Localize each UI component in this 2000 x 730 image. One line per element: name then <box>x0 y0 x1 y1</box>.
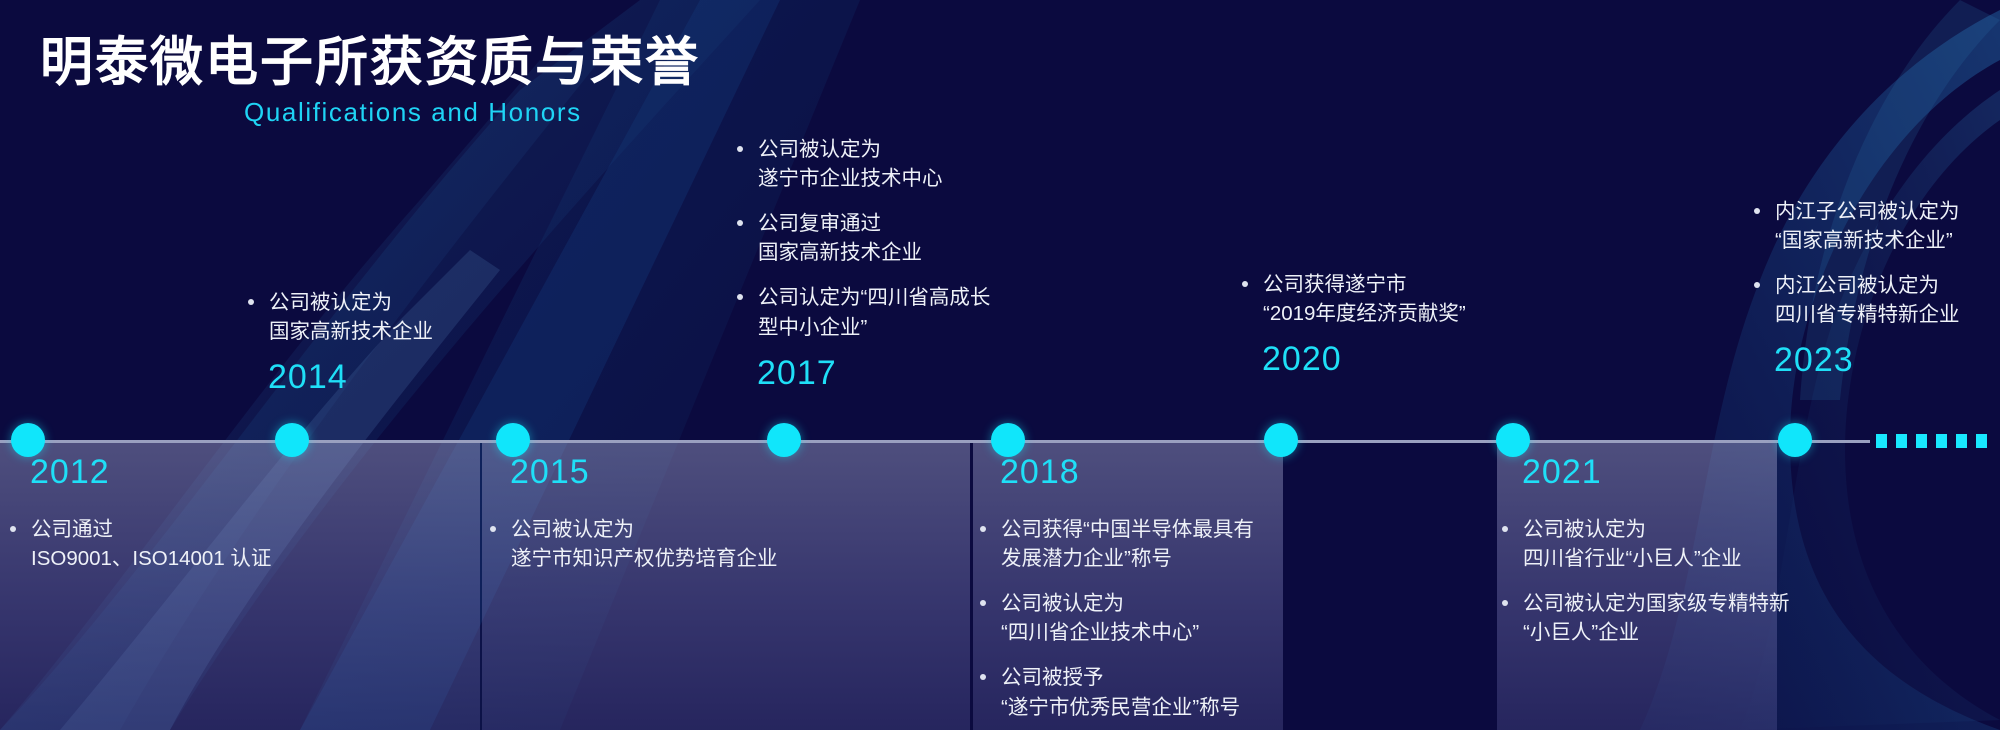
timeline-dot-2020[interactable] <box>1264 423 1298 457</box>
timeline-year-label-2023: 2023 <box>1774 343 1960 377</box>
timeline-dot-2017[interactable] <box>767 423 801 457</box>
timeline-axis-dashes <box>1876 434 1987 448</box>
timeline-year-label-2018: 2018 <box>1000 455 1254 489</box>
axis-dash <box>1936 434 1947 448</box>
timeline-entry-bullets-2023: 内江子公司被认定为 “国家高新技术企业”内江公司被认定为 四川省专精特新企业 <box>1752 197 1960 329</box>
timeline-bullet: 公司复审通过 国家高新技术企业 <box>735 209 990 267</box>
timeline-bullet: 公司认定为“四川省高成长 型中小企业” <box>735 283 990 341</box>
timeline-entry-bullets-2020: 公司获得遂宁市 “2019年度经济贡献奖” <box>1240 270 1466 328</box>
timeline-bullet: 公司被认定为国家级专精特新 “小巨人”企业 <box>1500 589 1790 647</box>
timeline-bullet: 公司获得“中国半导体最具有 发展潜力企业”称号 <box>978 515 1254 573</box>
timeline-bullet: 公司被授予 “遂宁市优秀民营企业”称号 <box>978 663 1254 721</box>
timeline-dot-2015[interactable] <box>496 423 530 457</box>
timeline-dot-2023[interactable] <box>1778 423 1812 457</box>
timeline-entry-2014[interactable]: 公司被认定为 国家高新技术企业2014 <box>246 288 433 394</box>
page-header: 明泰微电子所获资质与荣誉 Qualifications and Honors <box>40 34 700 128</box>
axis-dash <box>1976 434 1987 448</box>
axis-dash <box>1916 434 1927 448</box>
timeline-dot-2014[interactable] <box>275 423 309 457</box>
timeline-year-label-2015: 2015 <box>510 455 778 489</box>
timeline-year-label-2021: 2021 <box>1522 455 1790 489</box>
timeline-bullet: 公司通过 ISO9001、ISO14001 认证 <box>8 515 271 573</box>
timeline-entry-bullets-2021: 公司被认定为 四川省行业“小巨人”企业公司被认定为国家级专精特新 “小巨人”企业 <box>1500 515 1790 647</box>
timeline-entry-2012[interactable]: 2012公司通过 ISO9001、ISO14001 认证 <box>8 455 271 573</box>
timeline-bullet: 公司被认定为 “四川省企业技术中心” <box>978 589 1254 647</box>
timeline-dot-2018[interactable] <box>991 423 1025 457</box>
timeline-entry-bullets-2014: 公司被认定为 国家高新技术企业 <box>246 288 433 346</box>
timeline-entry-bullets-2012: 公司通过 ISO9001、ISO14001 认证 <box>8 515 271 573</box>
page-title: 明泰微电子所获资质与荣誉 <box>40 34 700 91</box>
timeline-dot-2021[interactable] <box>1496 423 1530 457</box>
timeline-entry-bullets-2015: 公司被认定为 遂宁市知识产权优势培育企业 <box>488 515 778 573</box>
timeline-entry-2018[interactable]: 2018公司获得“中国半导体最具有 发展潜力企业”称号公司被认定为 “四川省企业… <box>978 455 1254 722</box>
timeline-year-label-2014: 2014 <box>268 360 433 394</box>
timeline-bullet: 公司被认定为 四川省行业“小巨人”企业 <box>1500 515 1790 573</box>
timeline-entry-2015[interactable]: 2015公司被认定为 遂宁市知识产权优势培育企业 <box>488 455 778 573</box>
timeline-entry-bullets-2018: 公司获得“中国半导体最具有 发展潜力企业”称号公司被认定为 “四川省企业技术中心… <box>978 515 1254 722</box>
timeline-year-label-2017: 2017 <box>757 356 990 390</box>
timeline-entry-2023[interactable]: 内江子公司被认定为 “国家高新技术企业”内江公司被认定为 四川省专精特新企业20… <box>1752 197 1960 377</box>
timeline-bullet: 公司被认定为 遂宁市知识产权优势培育企业 <box>488 515 778 573</box>
slide-canvas: 明泰微电子所获资质与荣誉 Qualifications and Honors 2… <box>0 0 2000 730</box>
axis-dash <box>1956 434 1967 448</box>
timeline-year-label-2012: 2012 <box>30 455 271 489</box>
axis-dash <box>1896 434 1907 448</box>
page-subtitle: Qualifications and Honors <box>244 97 700 128</box>
timeline-year-label-2020: 2020 <box>1262 342 1466 376</box>
timeline-entry-2021[interactable]: 2021公司被认定为 四川省行业“小巨人”企业公司被认定为国家级专精特新 “小巨… <box>1500 455 1790 647</box>
timeline-entry-2017[interactable]: 公司被认定为 遂宁市企业技术中心公司复审通过 国家高新技术企业公司认定为“四川省… <box>735 135 990 390</box>
timeline-dot-2012[interactable] <box>11 423 45 457</box>
timeline-bullet: 公司被认定为 遂宁市企业技术中心 <box>735 135 990 193</box>
timeline-bullet: 公司获得遂宁市 “2019年度经济贡献奖” <box>1240 270 1466 328</box>
timeline-entry-bullets-2017: 公司被认定为 遂宁市企业技术中心公司复审通过 国家高新技术企业公司认定为“四川省… <box>735 135 990 342</box>
timeline-entry-2020[interactable]: 公司获得遂宁市 “2019年度经济贡献奖”2020 <box>1240 270 1466 376</box>
timeline-bullet: 内江子公司被认定为 “国家高新技术企业” <box>1752 197 1960 255</box>
timeline-bullet: 内江公司被认定为 四川省专精特新企业 <box>1752 271 1960 329</box>
axis-dash <box>1876 434 1887 448</box>
timeline-bullet: 公司被认定为 国家高新技术企业 <box>246 288 433 346</box>
